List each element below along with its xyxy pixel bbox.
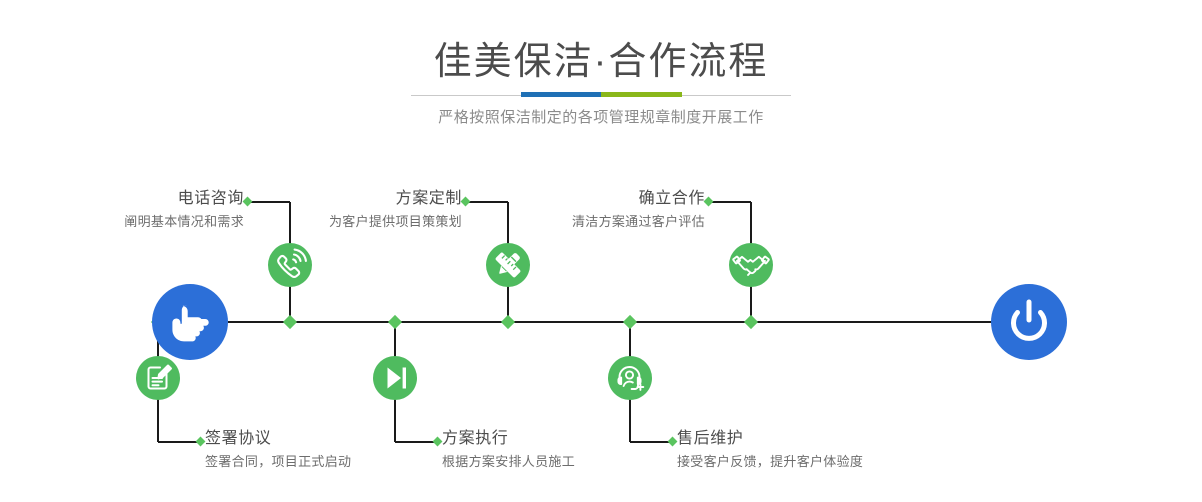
flow-diagram: 电话咨询 阐明基本情况和需求 方案定制 为客户提供项目策策划 确立合作 清洁方案… xyxy=(0,150,1202,502)
step-title-5: 确立合作 xyxy=(460,188,705,210)
step-title-3: 方案定制 xyxy=(220,188,462,210)
label-marker xyxy=(196,437,206,447)
header: 佳美保洁·合作流程 严格按照保洁制定的各项管理规章制度开展工作 xyxy=(0,0,1202,150)
axis-marker xyxy=(388,315,402,329)
axis-marker xyxy=(501,315,515,329)
divider-segment-blue xyxy=(521,92,601,97)
step-node-1 xyxy=(268,243,312,287)
page-title: 佳美保洁·合作流程 xyxy=(0,38,1202,86)
process-flow-graphic: 佳美保洁·合作流程 严格按照保洁制定的各项管理规章制度开展工作 xyxy=(0,0,1202,502)
step-title-2: 签署协议 xyxy=(205,428,351,450)
axis-marker xyxy=(623,315,637,329)
step-node-3 xyxy=(486,243,530,287)
step-label-6: 售后维护 接受客户反馈，提升客户体验度 xyxy=(677,428,863,472)
step-title-4: 方案执行 xyxy=(442,428,575,450)
step-title-6: 售后维护 xyxy=(677,428,863,450)
step-node-4 xyxy=(373,356,417,400)
step-label-4: 方案执行 根据方案安排人员施工 xyxy=(442,428,575,472)
step-node-5 xyxy=(729,243,773,287)
axis-marker xyxy=(283,315,297,329)
step-desc-5: 清洁方案通过客户评估 xyxy=(460,211,705,232)
step-label-3: 方案定制 为客户提供项目策策划 xyxy=(220,188,462,232)
step-desc-6: 接受客户反馈，提升客户体验度 xyxy=(677,451,863,472)
pencil-ruler-icon xyxy=(486,243,530,287)
step-desc-4: 根据方案安排人员施工 xyxy=(442,451,575,472)
label-marker xyxy=(433,437,443,447)
step-node-6 xyxy=(608,356,652,400)
step-desc-1: 阐明基本情况和需求 xyxy=(0,211,244,232)
step-desc-3: 为客户提供项目策策划 xyxy=(220,211,462,232)
title-divider xyxy=(411,92,791,98)
label-marker xyxy=(668,437,678,447)
flow-end-node xyxy=(991,284,1067,360)
step-node-2 xyxy=(136,356,180,400)
step-label-2: 签署协议 签署合同，项目正式启动 xyxy=(205,428,351,472)
axis-marker xyxy=(744,315,758,329)
pointing-hand-icon xyxy=(152,284,228,360)
step-title-1: 电话咨询 xyxy=(0,188,244,210)
phone-call-icon xyxy=(268,243,312,287)
document-edit-icon xyxy=(136,356,180,400)
step-label-5: 确立合作 清洁方案通过客户评估 xyxy=(460,188,705,232)
headset-support-add-icon xyxy=(608,356,652,400)
flow-start-node xyxy=(152,284,228,360)
page-subtitle: 严格按照保洁制定的各项管理规章制度开展工作 xyxy=(0,107,1202,129)
power-icon xyxy=(991,284,1067,360)
play-next-icon xyxy=(373,356,417,400)
step-desc-2: 签署合同，项目正式启动 xyxy=(205,451,351,472)
label-marker xyxy=(704,197,714,207)
step-label-1: 电话咨询 阐明基本情况和需求 xyxy=(0,188,244,232)
divider-segment-green xyxy=(601,92,682,97)
handshake-icon xyxy=(729,243,773,287)
